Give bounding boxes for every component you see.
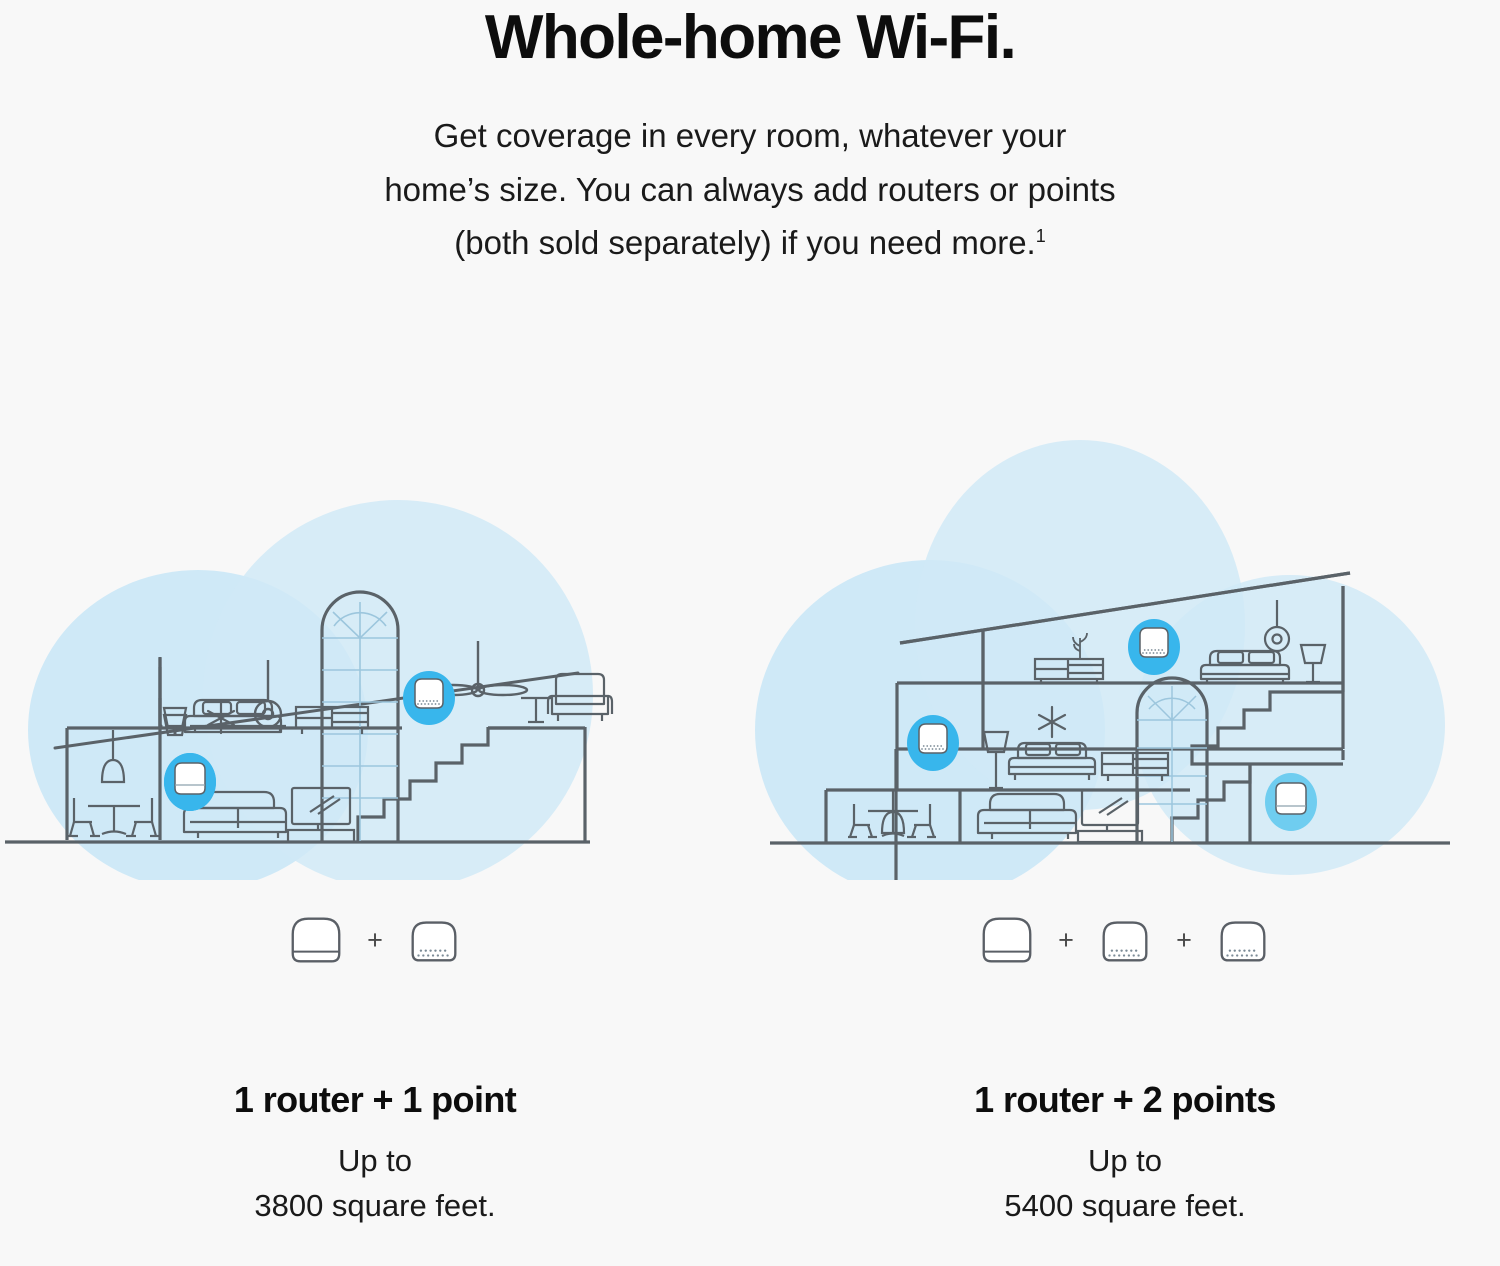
panels-row: + 1 router + 1 point xyxy=(0,430,1500,1266)
caption-sub-line-1: Up to xyxy=(750,1139,1500,1184)
header: Whole-home Wi-Fi. Get coverage in every … xyxy=(0,0,1500,270)
page-subtitle: Get coverage in every room, whatever you… xyxy=(300,109,1200,269)
badge-point-top-floor xyxy=(1128,619,1180,675)
house-illustration-two-story xyxy=(0,430,750,880)
subtitle-line-3: (both sold separately) if you need more. xyxy=(454,224,1035,261)
router-device-icon xyxy=(285,909,347,971)
badge-router-ground xyxy=(1265,773,1317,831)
caption-sub-line-1: Up to xyxy=(0,1139,750,1184)
caption-sub-line-2: 3800 square feet. xyxy=(0,1184,750,1229)
panel-1router-2points: + + xyxy=(750,430,1500,1266)
caption-title-1: 1 router + 1 point xyxy=(0,1078,750,1121)
point-device-icon xyxy=(1094,909,1156,971)
subtitle-line-2: home’s size. You can always add routers … xyxy=(384,171,1115,208)
subtitle-line-1: Get coverage in every room, whatever you… xyxy=(434,117,1067,154)
panel-1router-1point: + 1 router + 1 point xyxy=(0,430,750,1266)
page-title: Whole-home Wi-Fi. xyxy=(0,2,1500,73)
caption-sub-2: Up to 5400 square feet. xyxy=(750,1139,1500,1229)
caption-panel-2: 1 router + 2 points Up to 5400 square fe… xyxy=(750,1078,1500,1229)
caption-panel-1: 1 router + 1 point Up to 3800 square fee… xyxy=(0,1078,750,1229)
footnote-marker: 1 xyxy=(1036,226,1046,246)
caption-sub-line-2: 5400 square feet. xyxy=(750,1184,1500,1229)
plus-separator-2a: + xyxy=(1038,927,1094,954)
caption-sub-1: Up to 3800 square feet. xyxy=(0,1139,750,1229)
badge-router-living-room xyxy=(164,753,216,811)
badge-point-mid-floor xyxy=(907,715,959,771)
plus-separator-1: + xyxy=(347,927,403,954)
caption-title-2: 1 router + 2 points xyxy=(750,1078,1500,1121)
house-illustration-three-story xyxy=(750,430,1500,880)
whole-home-wifi-page: Whole-home Wi-Fi. Get coverage in every … xyxy=(0,0,1500,1266)
point-device-icon xyxy=(1212,909,1274,971)
router-device-icon xyxy=(976,909,1038,971)
plus-separator-2b: + xyxy=(1156,927,1212,954)
device-list-panel-2: + + xyxy=(750,885,1500,995)
point-device-icon xyxy=(403,909,465,971)
badge-point-stairs xyxy=(403,671,455,725)
device-list-panel-1: + xyxy=(0,885,750,995)
